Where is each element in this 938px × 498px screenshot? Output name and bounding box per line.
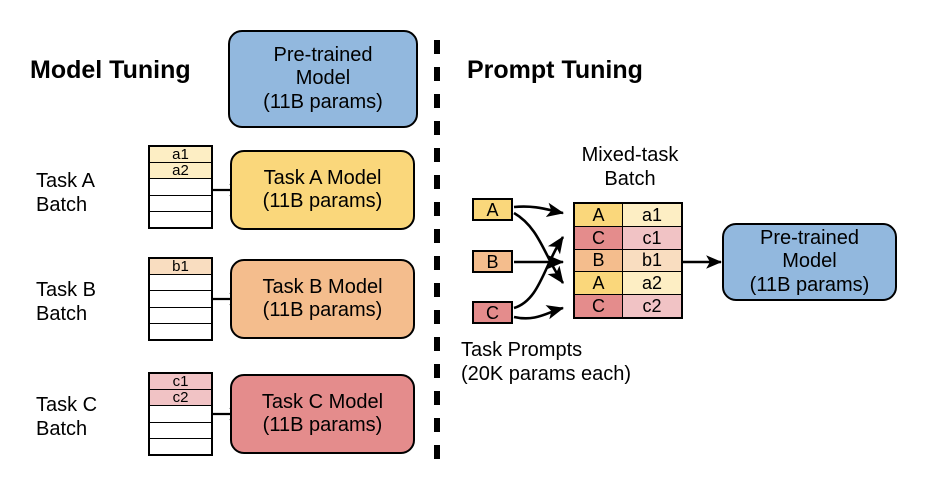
task-c-batch-row	[150, 439, 211, 454]
mixed-batch-row: A a1	[575, 204, 681, 227]
task-a-model-box[interactable]: Task A Model (11B params)	[230, 150, 415, 230]
mixed-batch-row: C c2	[575, 295, 681, 317]
task-a-batch-row	[150, 196, 211, 212]
prompt-tuning-title: Prompt Tuning	[467, 58, 643, 83]
mixed-batch-tag: A	[575, 272, 623, 294]
right-pretrained-line1: Pre-trained	[760, 227, 859, 250]
mixed-task-batch-label-line2: Batch	[555, 168, 705, 192]
task-c-batch-cell: c1	[173, 374, 189, 389]
mixed-batch-value: a2	[623, 272, 681, 294]
task-c-model-line2: (11B params)	[263, 414, 383, 437]
task-c-batch-row: c1	[150, 374, 211, 390]
task-a-batch-cell: a1	[172, 147, 189, 162]
task-b-batch-row	[150, 324, 211, 339]
mixed-batch-row: C c1	[575, 227, 681, 250]
mixed-batch-tag: C	[575, 295, 623, 317]
mixed-batch-row: A a2	[575, 272, 681, 295]
task-b-model-line1: Task B Model	[262, 276, 382, 299]
diagram-canvas: Model Tuning Pre-trained Model (11B para…	[0, 0, 938, 498]
mixed-batch-row: B b1	[575, 250, 681, 273]
mixed-batch-value: a1	[623, 204, 681, 226]
task-c-model-box[interactable]: Task C Model (11B params)	[230, 374, 415, 454]
task-c-batch-row: c2	[150, 390, 211, 406]
mixed-batch-value: c2	[623, 295, 681, 317]
task-a-model-line1: Task A Model	[264, 167, 382, 190]
arrow-prompt-c-to-row5	[514, 308, 563, 318]
task-c-batch-label: Task C Batch	[36, 394, 141, 441]
arrow-prompt-a-to-row1	[514, 207, 563, 213]
task-b-model-box[interactable]: Task B Model (11B params)	[230, 259, 415, 339]
task-c-batch-label-line1: Task C	[36, 394, 141, 418]
task-b-batch-row	[150, 291, 211, 307]
task-b-batch-label-line1: Task B	[36, 279, 141, 303]
task-a-batch-label: Task A Batch	[36, 170, 141, 217]
task-b-batch-row	[150, 275, 211, 291]
task-prompts-caption-line2: (20K params each)	[461, 363, 721, 387]
task-a-batch-cell: a2	[172, 163, 189, 178]
task-a-model-line2: (11B params)	[263, 190, 383, 213]
task-c-batch-row	[150, 423, 211, 439]
task-b-batch-row: b1	[150, 259, 211, 275]
task-b-batch-label-line2: Batch	[36, 303, 141, 327]
mixed-batch-tag: A	[575, 204, 623, 226]
right-pretrained-line3: (11B params)	[750, 274, 870, 297]
mixed-batch-tag: B	[575, 250, 623, 272]
task-b-batch-cell: b1	[172, 259, 189, 274]
task-c-batch-table[interactable]: c1 c2	[148, 372, 213, 456]
task-a-batch-table[interactable]: a1 a2	[148, 145, 213, 229]
model-tuning-title: Model Tuning	[30, 58, 191, 83]
task-c-model-line1: Task C Model	[262, 391, 383, 414]
right-pretrained-model-box[interactable]: Pre-trained Model (11B params)	[722, 223, 897, 301]
task-b-model-line2: (11B params)	[263, 299, 383, 322]
left-pretrained-line3: (11B params)	[263, 91, 383, 114]
task-a-batch-label-line1: Task A	[36, 170, 141, 194]
right-pretrained-line2: Model	[782, 250, 836, 273]
task-prompt-a-label: A	[486, 201, 498, 219]
task-c-batch-row	[150, 406, 211, 422]
task-prompt-b[interactable]: B	[472, 250, 513, 273]
mixed-batch-value: c1	[623, 227, 681, 249]
task-prompt-a[interactable]: A	[472, 198, 513, 221]
task-b-batch-label: Task B Batch	[36, 279, 141, 326]
task-prompt-c[interactable]: C	[472, 301, 513, 324]
task-a-batch-row: a1	[150, 147, 211, 163]
task-a-batch-row	[150, 212, 211, 227]
task-prompts-caption: Task Prompts (20K params each)	[461, 339, 721, 386]
task-a-batch-row	[150, 179, 211, 195]
task-prompt-b-label: B	[486, 253, 498, 271]
mixed-batch-tag: C	[575, 227, 623, 249]
task-b-batch-row	[150, 308, 211, 324]
task-a-batch-label-line2: Batch	[36, 194, 141, 218]
arrow-prompt-c-to-row2	[514, 237, 563, 308]
left-pretrained-line2: Model	[296, 67, 350, 90]
mixed-task-batch-table[interactable]: A a1 C c1 B b1 A a2 C c2	[573, 202, 683, 319]
arrow-prompt-a-to-row4	[514, 213, 563, 283]
task-c-batch-cell: c2	[173, 390, 189, 405]
mixed-task-batch-label: Mixed-task Batch	[555, 144, 705, 191]
task-prompts-caption-line1: Task Prompts	[461, 339, 721, 363]
left-pretrained-model-box[interactable]: Pre-trained Model (11B params)	[228, 30, 418, 128]
task-a-batch-row: a2	[150, 163, 211, 179]
mixed-batch-value: b1	[623, 250, 681, 272]
task-prompt-c-label: C	[486, 304, 499, 322]
task-b-batch-table[interactable]: b1	[148, 257, 213, 341]
task-c-batch-label-line2: Batch	[36, 418, 141, 442]
mixed-task-batch-label-line1: Mixed-task	[555, 144, 705, 168]
left-pretrained-line1: Pre-trained	[274, 44, 373, 67]
